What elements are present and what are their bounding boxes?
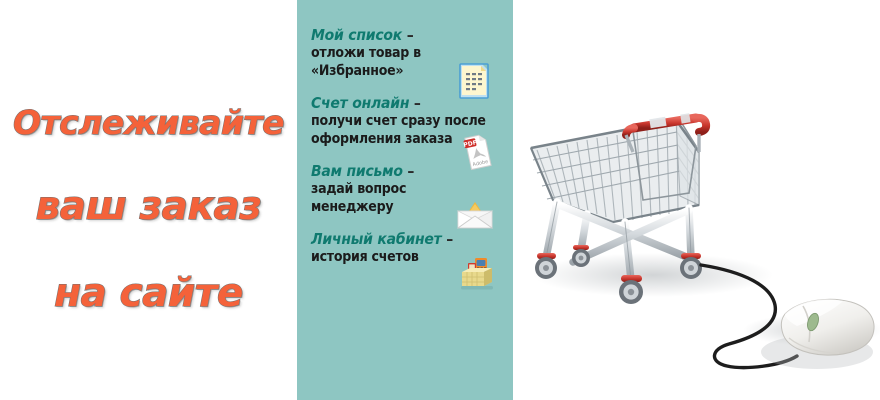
feature-item[interactable]: Вам письмо – задай вопрос менеджеру [311, 162, 499, 216]
feature-item[interactable]: Мой список – отложи товар в «Избранное» [311, 26, 499, 80]
feature-title-dash: – [446, 230, 453, 248]
cash-box-icon [455, 250, 499, 294]
feature-title-dash: – [407, 26, 414, 44]
feature-title-dash: – [414, 94, 421, 112]
feature-title: Личный кабинет – [311, 230, 499, 248]
cart-and-mouse-image: Металлическая тележка для покупок, соеди… [513, 0, 880, 400]
feature-title-text: Счет онлайн [311, 94, 409, 112]
slogan-line-2: ваш заказ [36, 187, 262, 226]
envelope-icon [453, 190, 497, 234]
feature-title-text: Вам письмо [311, 162, 403, 180]
feature-title: Вам письмо – [311, 162, 499, 180]
slogan-block: Отслеживайте ваш заказ на сайте [0, 0, 297, 400]
feature-item[interactable]: Личный кабинет – история счетов [311, 230, 499, 267]
feature-title-text: Мой список [311, 26, 402, 44]
feature-item[interactable]: Счет онлайн – получи счет сразу после оф… [311, 94, 499, 148]
promo-banner: Отслеживайте ваш заказ на сайте Мой спис… [0, 0, 880, 400]
slogan-line-1: Отслеживайте [13, 106, 284, 139]
feature-title: Мой список – [311, 26, 499, 44]
slogan-line-3: на сайте [54, 274, 243, 313]
features-panel: Мой список – отложи товар в «Избранное» [297, 0, 513, 400]
feature-title-text: Личный кабинет [311, 230, 442, 248]
feature-title: Счет онлайн – [311, 94, 499, 112]
feature-title-dash: – [407, 162, 414, 180]
